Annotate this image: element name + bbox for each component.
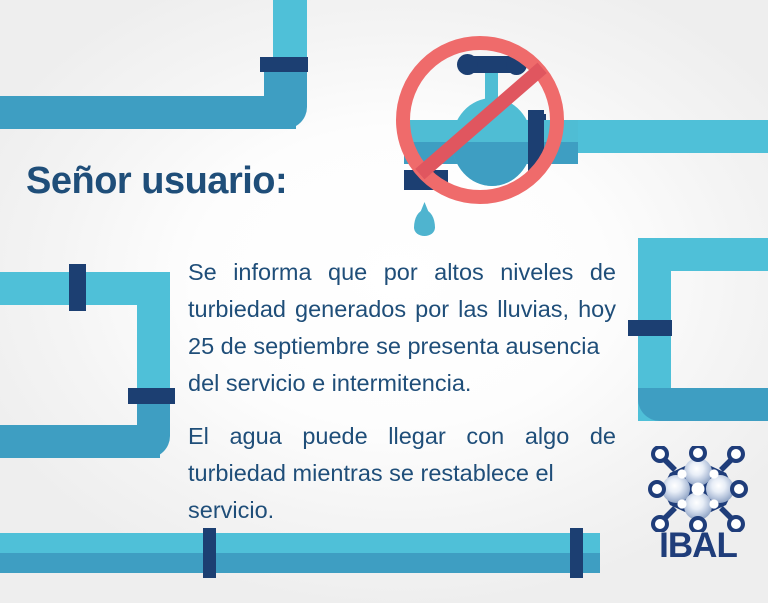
ibal-logo: IBAL bbox=[648, 446, 756, 564]
water-service-notice-poster: Señor usuario: Se informa que por altos … bbox=[0, 0, 768, 603]
ibal-logo-text: IBAL bbox=[648, 528, 748, 564]
page-title: Señor usuario: bbox=[26, 160, 287, 203]
notice-paragraph-1: Se informa que por altos niveles de turb… bbox=[188, 254, 616, 402]
pipe-middle-left-vertical bbox=[137, 300, 170, 395]
water-drop-icon bbox=[414, 210, 435, 236]
pipe-top-left-horizontal bbox=[0, 96, 296, 129]
pipe-bottom-shade bbox=[0, 553, 600, 573]
notice-paragraph-1-text: Se informa que por altos niveles de turb… bbox=[188, 259, 616, 359]
pipe-collar-middle-left-top bbox=[69, 264, 86, 311]
water-valve-prohibited-graphic bbox=[392, 32, 578, 250]
pipe-collar-bottom-left bbox=[203, 528, 216, 578]
molecule-icon bbox=[648, 446, 748, 532]
pipe-collar-middle-left-bottom bbox=[128, 388, 175, 404]
pipe-collar-bottom-right bbox=[570, 528, 583, 578]
pipe-right-bottom bbox=[638, 388, 768, 421]
notice-paragraph-2: El agua puede llegar con algo de turbied… bbox=[188, 418, 616, 529]
notice-paragraph-2-text: El agua puede llegar con algo de turbied… bbox=[188, 423, 616, 486]
pipe-middle-left-bottom-horizontal bbox=[0, 425, 160, 458]
pipe-collar-top-left bbox=[260, 57, 308, 72]
notice-paragraph-1-last-line: del servicio e intermitencia. bbox=[188, 365, 616, 402]
notice-paragraph-2-last-line: servicio. bbox=[188, 492, 616, 529]
pipe-collar-right bbox=[628, 320, 672, 336]
